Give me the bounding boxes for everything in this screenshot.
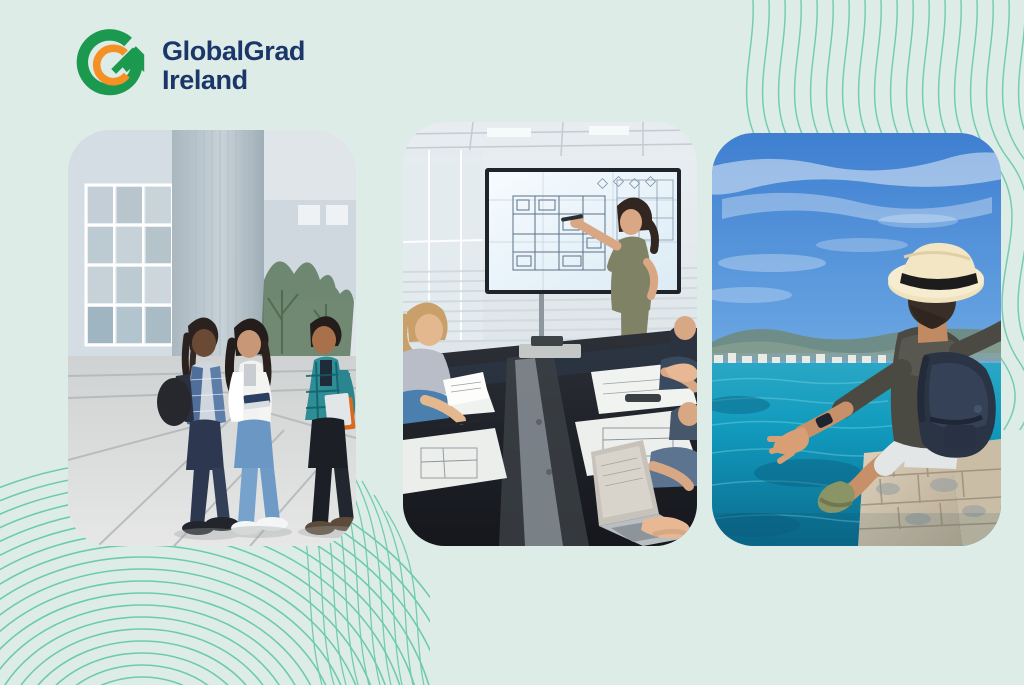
traveler-seaside-photo[interactable] — [712, 133, 1001, 546]
campus-students-photo[interactable] — [68, 130, 356, 546]
poster-canvas: GlobalGradIreland — [0, 0, 1024, 685]
globalgrad-g-arrow-logo-icon — [72, 28, 148, 104]
brand-wordmark-line1: GlobalGrad — [162, 36, 305, 66]
office-presentation-photo[interactable] — [403, 122, 697, 546]
brand-logo[interactable]: GlobalGradIreland — [72, 28, 305, 104]
brand-wordmark-line2: Ireland — [162, 65, 248, 95]
brand-wordmark: GlobalGradIreland — [162, 37, 305, 95]
